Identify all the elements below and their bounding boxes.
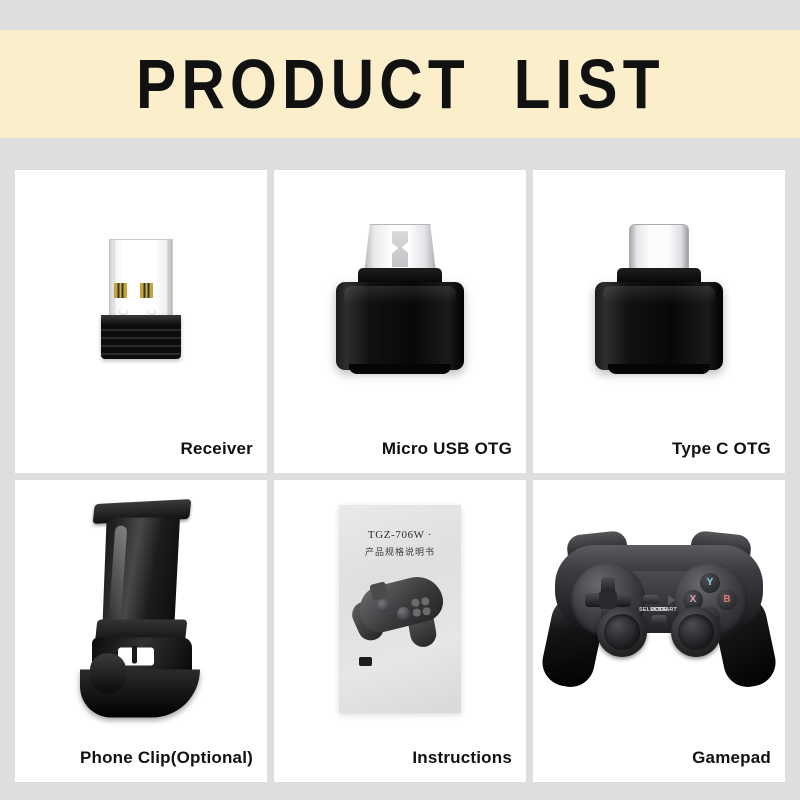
product-label-gamepad: Gamepad	[692, 748, 771, 768]
gamepad-button-b: B	[717, 590, 737, 610]
adapter-body	[595, 282, 723, 370]
instructions-image-stage: TGZ-706W · 产品规格说明书	[274, 480, 526, 739]
gamepad-body: Y X B A SELECT START MODE	[555, 545, 763, 631]
gamepad-stick-left	[597, 607, 647, 657]
gamepad-mode-button	[652, 615, 667, 625]
product-card-instructions[interactable]: TGZ-706W · 产品规格说明书 Instructions	[274, 480, 526, 783]
gamepad-image-stage: Y X B A SELECT START MODE	[533, 480, 785, 739]
receiver-image-stage	[15, 170, 267, 429]
usb-contact-left	[114, 283, 127, 298]
micro-usb-plug	[364, 224, 436, 273]
product-label-phone-clip: Phone Clip(Optional)	[80, 748, 253, 768]
usb-plastic-body	[101, 315, 181, 359]
product-label-receiver: Receiver	[181, 439, 254, 459]
gamepad-mode-label: MODE	[650, 607, 667, 613]
product-card-receiver[interactable]: Receiver	[15, 170, 267, 473]
gamepad-start-glyph	[668, 595, 675, 605]
product-grid: Receiver Micro USB OTG Typ	[15, 170, 785, 782]
product-label-type-c-otg: Type C OTG	[672, 439, 771, 459]
header-band: PRODUCT LIST	[0, 30, 800, 138]
type-c-otg-adapter-icon	[594, 224, 724, 374]
type-c-plug	[629, 224, 689, 272]
product-label-micro-usb-otg: Micro USB OTG	[382, 439, 512, 459]
booklet-gamepad-illustration	[353, 567, 449, 653]
booklet-receiver-illustration	[359, 657, 372, 666]
adapter-body	[336, 282, 464, 370]
usb-contact-right	[140, 283, 153, 298]
booklet-subtitle: 产品规格说明书	[339, 545, 461, 558]
phone-clip-bracket-icon	[66, 501, 216, 716]
gamepad-stick-right	[671, 607, 721, 657]
booklet-pad-stick-right	[397, 607, 410, 620]
clip-hook	[80, 669, 200, 717]
micro-usb-otg-image-stage	[274, 170, 526, 429]
instruction-booklet-icon: TGZ-706W · 产品规格说明书	[339, 505, 461, 713]
product-label-instructions: Instructions	[412, 748, 512, 768]
product-card-micro-usb-otg[interactable]: Micro USB OTG	[274, 170, 526, 473]
product-card-phone-clip[interactable]: Phone Clip(Optional)	[15, 480, 267, 783]
product-card-type-c-otg[interactable]: Type C OTG	[533, 170, 785, 473]
page-title: PRODUCT LIST	[136, 49, 665, 119]
product-card-gamepad[interactable]: Y X B A SELECT START MODE	[533, 480, 785, 783]
type-c-otg-image-stage	[533, 170, 785, 429]
gamepad-select-button	[643, 595, 659, 604]
wireless-gamepad-icon: Y X B A SELECT START MODE	[541, 533, 777, 685]
booklet-pad-face-buttons	[410, 595, 433, 618]
usb-receiver-icon	[95, 239, 187, 359]
usb-connector-shell	[109, 239, 173, 317]
booklet-pad-stick-left	[377, 599, 390, 612]
gamepad-button-y: Y	[700, 573, 720, 593]
product-list-page: PRODUCT LIST Receiver	[0, 0, 800, 800]
dpad-center	[599, 591, 617, 609]
phone-clip-image-stage	[15, 480, 267, 739]
booklet-model-code: TGZ-706W ·	[339, 529, 461, 541]
micro-usb-otg-adapter-icon	[335, 224, 465, 374]
